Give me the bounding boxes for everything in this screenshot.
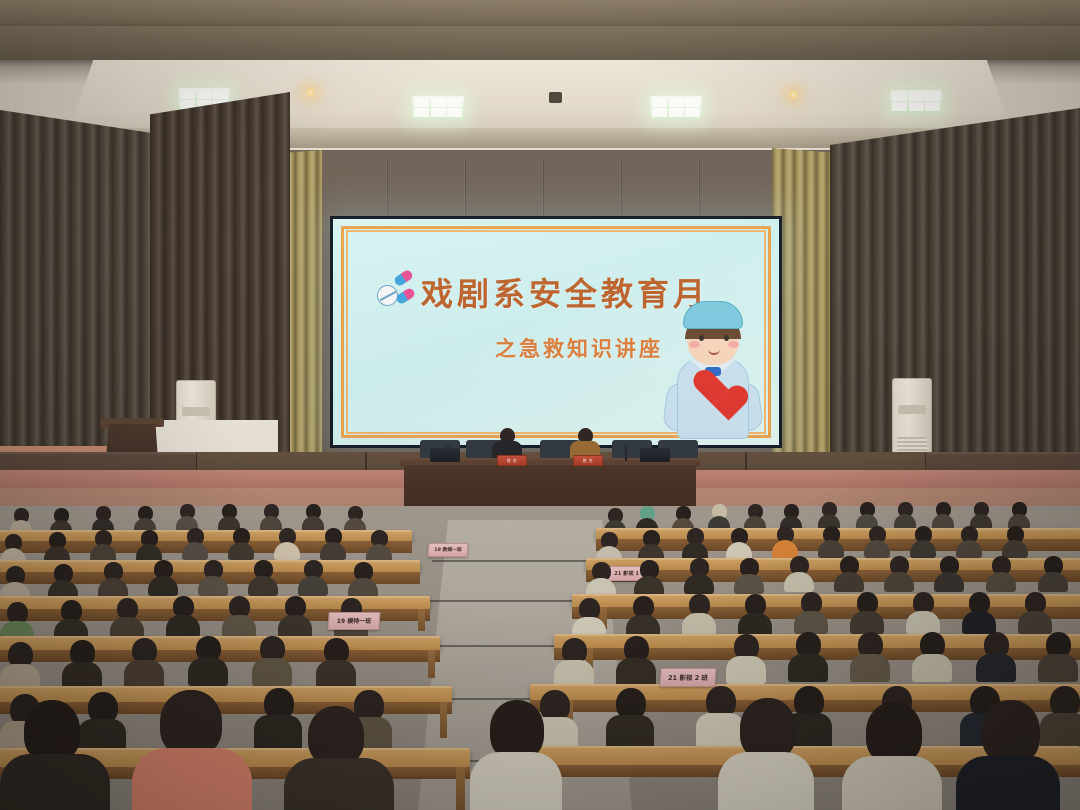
audience-person xyxy=(932,502,954,528)
audience-person xyxy=(626,596,660,636)
audience-person xyxy=(850,592,884,632)
audience-person xyxy=(572,598,606,638)
ceiling-downlight xyxy=(788,90,799,99)
audience-person xyxy=(726,634,766,682)
audience-person xyxy=(110,598,144,638)
audience-person xyxy=(252,636,292,684)
audience-person xyxy=(850,632,890,680)
class-sign: 19 数媒一班 xyxy=(428,543,469,557)
audience-person xyxy=(366,530,392,560)
ceiling-downlight xyxy=(305,88,316,97)
audience-person xyxy=(834,556,864,590)
desk-leg xyxy=(418,609,425,631)
dark-curtain-left-inner xyxy=(150,92,290,464)
audience-person xyxy=(606,688,654,748)
medical-worker-holding-heart-icon xyxy=(661,297,765,439)
audience-person xyxy=(44,532,70,562)
audience-person xyxy=(956,526,982,556)
class-sign: 21 影视 2 班 xyxy=(659,668,716,687)
audience-person xyxy=(772,526,798,556)
audience-person xyxy=(1038,556,1068,590)
class-sign-label: 19 数媒一班 xyxy=(428,544,467,558)
audience-person xyxy=(554,638,594,686)
audience-person-foreground xyxy=(0,700,110,810)
audience-person xyxy=(278,596,312,636)
audience-person xyxy=(90,530,116,560)
audience-person xyxy=(912,632,952,680)
audience-person xyxy=(884,556,914,590)
audience-person xyxy=(976,632,1016,680)
audience-person xyxy=(316,638,356,686)
audience-person xyxy=(136,530,162,560)
audience-person-foreground xyxy=(284,706,394,810)
desk-leg xyxy=(428,650,435,678)
audience-person xyxy=(188,636,228,684)
audience-person xyxy=(894,502,916,528)
audience-person xyxy=(910,526,936,556)
capsule-icon xyxy=(395,287,416,306)
auditorium-photo: 戏剧系安全教育月 之急救知识讲座 xyxy=(0,0,1080,810)
audience-person xyxy=(218,504,240,530)
audience-person xyxy=(986,556,1016,590)
audience-person xyxy=(320,528,346,558)
medic-cheek xyxy=(689,341,700,348)
desk-leg xyxy=(440,702,447,738)
audience-person xyxy=(682,594,716,634)
audience-person xyxy=(1002,526,1028,556)
audience-person xyxy=(794,592,828,632)
audience-person xyxy=(738,594,772,634)
audience-person xyxy=(274,528,300,558)
audience-person xyxy=(248,560,278,594)
ceiling-beam-outer xyxy=(0,0,1080,26)
audience-person xyxy=(682,528,708,558)
audience-person-foreground xyxy=(718,698,814,810)
audience-person xyxy=(1008,502,1030,528)
nameplate-text: 姓 名 xyxy=(498,456,526,465)
heart-icon xyxy=(692,371,734,409)
audience-person xyxy=(298,560,328,594)
audience-person xyxy=(818,502,840,528)
audience-person xyxy=(0,642,40,690)
audience-person xyxy=(222,596,256,636)
audience-person xyxy=(92,506,114,532)
audience-person-foreground xyxy=(842,702,942,810)
audience-person xyxy=(182,528,208,558)
audience-person xyxy=(344,506,366,532)
audience-person xyxy=(260,504,282,530)
audience-person xyxy=(856,502,878,528)
audience-person xyxy=(744,504,766,530)
audience-person xyxy=(638,530,664,560)
ceiling-panel-light xyxy=(890,90,942,113)
pills-capsule-icon xyxy=(375,271,421,311)
laptop xyxy=(640,448,670,462)
audience-person xyxy=(818,526,844,556)
ceiling-speaker xyxy=(549,92,562,103)
audience-person xyxy=(1018,592,1052,632)
microphone xyxy=(447,448,449,461)
audience-person xyxy=(784,556,814,590)
audience-person xyxy=(906,592,940,632)
audience-person xyxy=(708,504,730,530)
audience-person xyxy=(48,564,78,598)
audience-person xyxy=(134,506,156,532)
audience-person xyxy=(176,504,198,530)
dark-curtain-right xyxy=(830,108,1080,478)
nameplate-text: 姓 名 xyxy=(574,456,602,465)
audience-person xyxy=(302,504,324,530)
audience-person xyxy=(788,632,828,680)
audience-person xyxy=(198,560,228,594)
audience-person xyxy=(684,558,714,592)
projection-screen: 戏剧系安全教育月 之急救知识讲座 xyxy=(330,216,782,448)
surgical-cap-icon xyxy=(683,301,743,329)
audience-person-foreground xyxy=(470,700,562,810)
nameplate: 姓 名 xyxy=(497,455,527,466)
slide-surface: 戏剧系安全教育月 之急救知识讲座 xyxy=(333,219,779,445)
ceiling-panel-light xyxy=(412,96,464,119)
class-sign: 19 模特一班 xyxy=(327,612,380,630)
audience-person xyxy=(634,560,664,594)
audience-person xyxy=(1038,632,1078,680)
audience-person xyxy=(124,638,164,686)
audience-person xyxy=(970,502,992,528)
audience-person xyxy=(726,528,752,558)
ceiling-beam-inner xyxy=(0,26,1080,60)
desk-leg xyxy=(456,767,465,810)
audience-person xyxy=(166,596,200,636)
microphone xyxy=(625,448,627,461)
medic-cheek xyxy=(728,341,739,348)
laptop xyxy=(430,448,460,462)
audience-person xyxy=(148,560,178,594)
audience-person-foreground xyxy=(132,690,252,810)
ceiling-panel-light xyxy=(650,96,702,119)
medic-eye xyxy=(724,335,729,341)
audience-person xyxy=(228,528,254,558)
audience-person xyxy=(98,562,128,596)
audience-person xyxy=(586,562,616,596)
audience-person xyxy=(616,636,656,684)
audience-person xyxy=(734,558,764,592)
audience-person xyxy=(962,592,996,632)
audience-person xyxy=(0,566,30,600)
audience-person xyxy=(54,600,88,640)
tablet-icon xyxy=(377,285,398,306)
slide-subtitle: 之急救知识讲座 xyxy=(495,333,663,363)
audience-person xyxy=(934,556,964,590)
capsule-icon xyxy=(393,269,414,288)
nameplate: 姓 名 xyxy=(573,455,603,466)
medic-eye xyxy=(699,335,704,341)
audience-person-foreground xyxy=(956,700,1060,810)
audience-person xyxy=(348,562,378,596)
audience-person xyxy=(62,640,102,688)
class-sign-label: 19 模特一班 xyxy=(328,613,379,631)
audience-person xyxy=(864,526,890,556)
